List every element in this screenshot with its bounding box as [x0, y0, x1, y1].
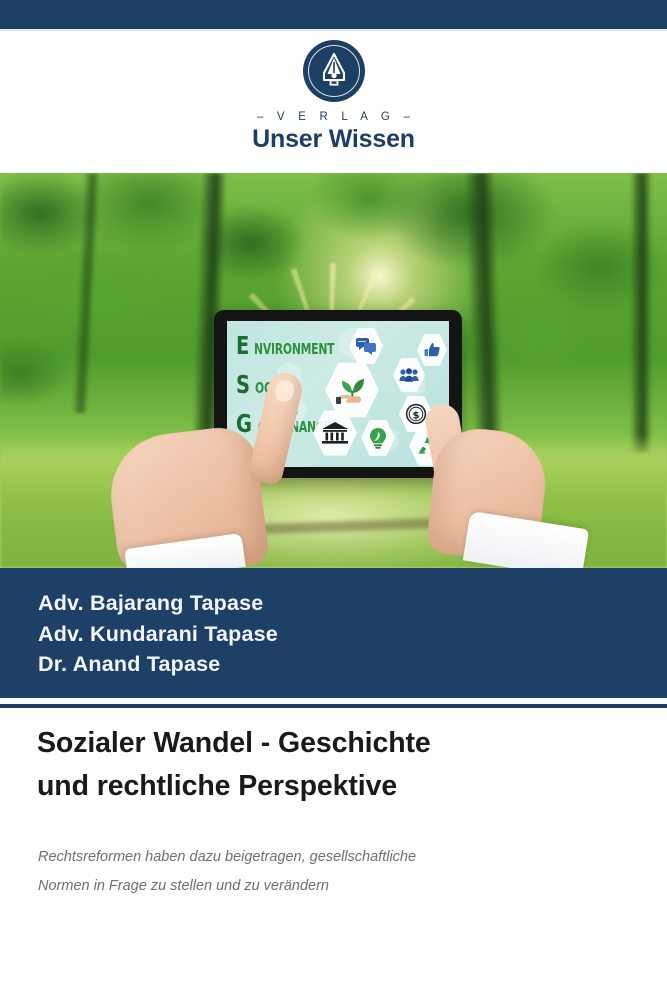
author-band: Adv. Bajarang Tapase Adv. Kundarani Tapa… — [0, 568, 667, 698]
esg-initial-s: S — [236, 372, 250, 397]
subtitle-line-2: Normen in Frage zu stellen und zu veränd… — [38, 872, 638, 901]
pen-nib-icon — [303, 40, 365, 102]
svg-text:$: $ — [413, 410, 420, 421]
esg-initial-e: E — [236, 333, 249, 358]
title-line-2: und rechtliche Perspektive — [37, 765, 637, 808]
subtitle-line-1: Rechtsreformen haben dazu beigetragen, g… — [38, 843, 638, 872]
esg-word-environment: NVIRONMENT — [254, 340, 334, 358]
separator-line — [0, 704, 667, 708]
book-cover: – V E R L A G – Unser Wissen — [0, 0, 667, 1000]
fingernail — [273, 378, 295, 403]
book-subtitle: Rechtsreformen haben dazu beigetragen, g… — [38, 843, 638, 901]
esg-row-environment: E NVIRONMENT — [236, 333, 348, 358]
publisher-verlag-label: – V E R L A G – — [252, 111, 415, 123]
author-list: Adv. Bajarang Tapase Adv. Kundarani Tapa… — [38, 588, 278, 680]
tree-trunk — [630, 173, 652, 453]
top-strip-highlight — [0, 29, 667, 31]
top-navy-strip — [0, 0, 667, 29]
publisher-name: Unser Wissen — [252, 125, 415, 154]
author-name: Adv. Bajarang Tapase — [38, 588, 278, 619]
publisher-logo-block: – V E R L A G – Unser Wissen — [0, 40, 667, 165]
title-line-1: Sozialer Wandel - Geschichte — [37, 722, 637, 765]
author-name: Adv. Kundarani Tapase — [38, 619, 278, 650]
esg-initial-g: G — [236, 411, 252, 436]
book-title: Sozialer Wandel - Geschichte und rechtli… — [37, 722, 637, 809]
author-name: Dr. Anand Tapase — [38, 649, 278, 680]
